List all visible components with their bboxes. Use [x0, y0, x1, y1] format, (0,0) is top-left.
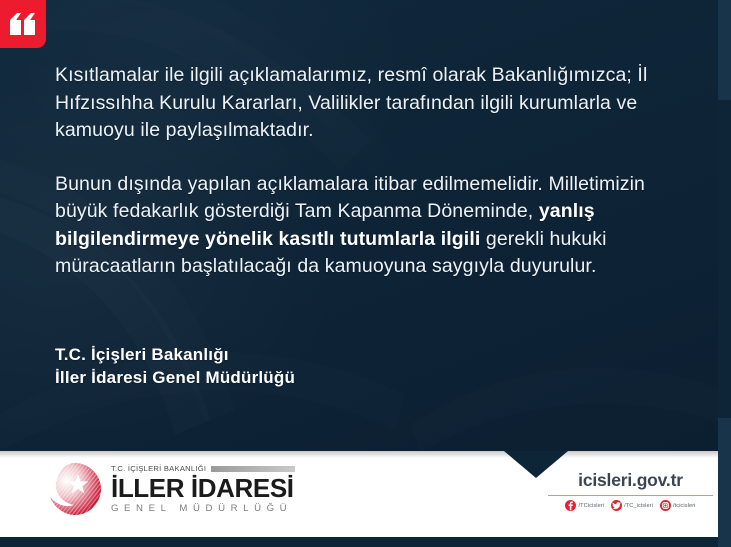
- quotation-mark-icon: [10, 13, 36, 35]
- signature-block: T.C. İçişleri Bakanlığı İller İdaresi Ge…: [55, 343, 295, 389]
- ministry-logo: T.C. İÇİŞLERİ BAKANLIĞI İLLER İDARESİ GE…: [48, 462, 295, 516]
- website-url[interactable]: icisleri.gov.tr: [548, 470, 713, 491]
- quote-badge: [0, 0, 46, 48]
- hero-background: Kısıtlamalar ile ilgili açıklamalarımız,…: [0, 0, 731, 451]
- logo-department-text: İLLER İDARESİ: [111, 475, 295, 501]
- scrollbar-track[interactable]: [718, 0, 731, 547]
- social-link-instagram[interactable]: /tcicisleri: [660, 500, 696, 511]
- website-divider: [548, 495, 713, 496]
- logo-ministry-text: T.C. İÇİŞLERİ BAKANLIĞI: [111, 465, 206, 473]
- social-links: /TCicisleri /TC_icisleri: [548, 500, 713, 511]
- signature-line-1: T.C. İçişleri Bakanlığı: [55, 343, 295, 366]
- announcement-text: Kısıtlamalar ile ilgili açıklamalarımız,…: [55, 62, 680, 281]
- logo-subtitle-text: GENEL MÜDÜRLÜĞÜ: [111, 504, 295, 514]
- instagram-handle: /tcicisleri: [673, 503, 696, 509]
- watermark-swoosh-right: [410, 330, 730, 451]
- twitter-icon: [611, 500, 622, 511]
- instagram-icon: [660, 500, 671, 511]
- paragraph-1: Kısıtlamalar ile ilgili açıklamalarımız,…: [55, 62, 680, 145]
- scrollbar-thumb[interactable]: [718, 100, 731, 418]
- social-link-facebook[interactable]: /TCicisleri: [565, 500, 604, 511]
- facebook-icon: [565, 500, 576, 511]
- logo-wordmark: T.C. İÇİŞLERİ BAKANLIĞI İLLER İDARESİ GE…: [111, 465, 295, 513]
- logo-ministry-row: T.C. İÇİŞLERİ BAKANLIĞI: [111, 465, 295, 473]
- social-link-twitter[interactable]: /TC_icisleri: [611, 500, 653, 511]
- crescent-star-emblem-icon: [48, 462, 102, 516]
- paragraph-2: Bunun dışında yapılan açıklamalara itiba…: [55, 171, 680, 281]
- website-block: icisleri.gov.tr /TCicisleri /TC_icisleri: [548, 470, 713, 511]
- signature-line-2: İller İdaresi Genel Müdürlüğü: [55, 366, 295, 389]
- logo-bar-decoration: [211, 466, 295, 472]
- facebook-handle: /TCicisleri: [578, 503, 604, 509]
- announcement-card: Kısıtlamalar ile ilgili açıklamalarımız,…: [0, 0, 731, 547]
- twitter-handle: /TC_icisleri: [624, 503, 653, 509]
